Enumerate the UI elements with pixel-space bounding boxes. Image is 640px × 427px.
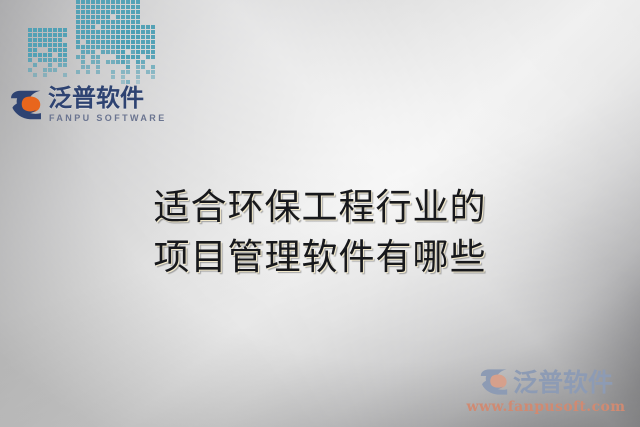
cityscape-pixel <box>43 28 47 32</box>
cityscape-pixel <box>58 53 62 57</box>
cityscape-pixel <box>28 33 32 37</box>
cityscape-pixel <box>76 35 80 39</box>
cityscape-pixel <box>33 53 37 57</box>
cityscape-pixel <box>48 63 52 67</box>
cityscape-pixel <box>151 30 155 34</box>
cityscape-pixel <box>141 60 145 64</box>
cityscape-pixel <box>86 50 90 54</box>
cityscape-pixel <box>58 43 62 47</box>
cityscape-pixel <box>81 5 85 9</box>
cityscape-pixel <box>151 75 155 79</box>
cityscape-pixel <box>136 25 140 29</box>
cityscape-pixel <box>48 58 52 62</box>
cityscape-pixel <box>126 0 130 4</box>
cityscape-pixel <box>106 35 110 39</box>
cityscape-pixel <box>38 58 42 62</box>
cityscape-pixel <box>131 55 135 59</box>
cityscape-pixel <box>91 35 95 39</box>
cityscape-pixel <box>126 55 130 59</box>
cityscape-pixel <box>116 30 120 34</box>
cityscape-pixel <box>91 25 95 29</box>
watermark: 泛普软件 www.fanpusoft.com <box>466 367 626 415</box>
cityscape-pixel <box>106 60 110 64</box>
cityscape-pixel <box>116 20 120 24</box>
cityscape-pixel <box>96 15 100 19</box>
cityscape-pixel <box>126 40 130 44</box>
page-title-line-1: 适合环保工程行业的 <box>0 183 640 233</box>
cityscape-pixel <box>81 55 85 59</box>
cityscape-pixel <box>136 35 140 39</box>
cityscape-pixel <box>101 10 105 14</box>
cityscape-pixel <box>53 48 57 52</box>
cityscape-pixel <box>146 40 150 44</box>
cityscape-pixel <box>111 10 115 14</box>
cityscape-pixel <box>126 60 130 64</box>
watermark-url: www.fanpusoft.com <box>466 399 626 415</box>
cityscape-pixel <box>96 45 100 49</box>
cityscape-pixel <box>33 63 37 67</box>
cityscape-pixel <box>91 10 95 14</box>
cityscape-pixel <box>106 5 110 9</box>
cityscape-pixel <box>151 40 155 44</box>
cityscape-pixel <box>81 30 85 34</box>
cityscape-pixel <box>121 55 125 59</box>
cityscape-pixel <box>43 43 47 47</box>
cityscape-pixel <box>111 40 115 44</box>
cityscape-pixel <box>58 33 62 37</box>
cityscape-pixel <box>28 53 32 57</box>
cityscape-pixel <box>146 35 150 39</box>
cityscape-pixel <box>136 65 140 69</box>
cityscape-pixel <box>126 65 130 69</box>
cityscape-pixel <box>131 15 135 19</box>
cityscape-pixel <box>121 40 125 44</box>
cityscape-pixel <box>146 25 150 29</box>
cityscape-pixel <box>111 75 115 79</box>
cityscape-pixel <box>131 30 135 34</box>
cityscape-pixel <box>28 48 32 52</box>
cityscape-pixel <box>146 70 150 74</box>
cityscape-pixel <box>38 43 42 47</box>
cityscape-pixel <box>131 10 135 14</box>
cityscape-pixel <box>101 5 105 9</box>
cityscape-pixel <box>76 5 80 9</box>
cityscape-pixel <box>96 20 100 24</box>
cityscape-pixel <box>106 25 110 29</box>
cityscape-pixel <box>101 25 105 29</box>
cityscape-pixel <box>81 25 85 29</box>
cityscape-pixel <box>86 10 90 14</box>
cityscape-pixel <box>76 45 80 49</box>
cityscape-pixel <box>106 15 110 19</box>
cityscape-pixel <box>121 45 125 49</box>
cityscape-pixel <box>116 45 120 49</box>
cityscape-pixel <box>53 33 57 37</box>
cityscape-pixel <box>58 28 62 32</box>
page-title-line-2: 项目管理软件有哪些 <box>0 233 640 283</box>
cityscape-pixel <box>38 38 42 42</box>
cityscape-pixel <box>86 65 90 69</box>
cityscape-pixel <box>151 55 155 59</box>
cityscape-pixel <box>111 35 115 39</box>
cityscape-pixel <box>116 60 120 64</box>
cityscape-pixel <box>151 45 155 49</box>
cityscape-pixel <box>101 40 105 44</box>
cityscape-pixel <box>136 75 140 79</box>
cityscape-pixel <box>131 20 135 24</box>
cityscape-pixel <box>121 0 125 4</box>
cityscape-pixel <box>131 40 135 44</box>
cityscape-pixel <box>91 55 95 59</box>
cityscape-pixel <box>101 45 105 49</box>
cityscape-pixel <box>91 60 95 64</box>
cityscape-pixel <box>116 35 120 39</box>
cityscape-pixel <box>151 25 155 29</box>
cityscape-pixel <box>58 63 62 67</box>
cityscape-pixel <box>76 20 80 24</box>
cityscape-pixel <box>76 25 80 29</box>
cityscape-pixel <box>116 5 120 9</box>
cityscape-pixel <box>76 0 80 4</box>
cityscape-pixel <box>121 25 125 29</box>
cityscape-pixel <box>33 48 37 52</box>
cityscape-pixel <box>86 20 90 24</box>
cityscape-pixel <box>81 65 85 69</box>
cityscape-pixel <box>81 15 85 19</box>
cityscape-pixel <box>141 50 145 54</box>
cityscape-pixel <box>63 53 67 57</box>
cityscape-pixel <box>48 38 52 42</box>
cityscape-pixel <box>91 5 95 9</box>
cityscape-pixel <box>101 30 105 34</box>
cityscape-pixel <box>146 45 150 49</box>
cityscape-pixel <box>96 55 100 59</box>
cityscape-pixel <box>116 55 120 59</box>
cityscape-pixel <box>141 25 145 29</box>
cityscape-pixel <box>131 50 135 54</box>
cityscape-pixel <box>121 30 125 34</box>
cityscape-pixel <box>48 43 52 47</box>
cityscape-pixel <box>91 45 95 49</box>
cityscape-pixel <box>106 50 110 54</box>
cityscape-pixel <box>136 20 140 24</box>
cityscape-pixel <box>28 28 32 32</box>
cityscape-pixel <box>53 68 57 72</box>
cityscape-pixel <box>38 33 42 37</box>
cityscape-pixel <box>146 55 150 59</box>
cityscape-pixel <box>151 35 155 39</box>
cityscape-pixel <box>111 5 115 9</box>
cityscape-pixel <box>141 30 145 34</box>
cityscape-pixel <box>43 38 47 42</box>
cityscape-pixel <box>116 50 120 54</box>
cityscape-pixel <box>76 40 80 44</box>
cityscape-pixel <box>81 0 85 4</box>
cityscape-pixel <box>121 5 125 9</box>
cityscape-pixel <box>136 15 140 19</box>
cityscape-pixel <box>58 38 62 42</box>
cityscape-pixel <box>101 20 105 24</box>
brand-name-cn: 泛普软件 <box>48 86 167 110</box>
cityscape-pixel <box>136 30 140 34</box>
cityscape-pixel <box>131 5 135 9</box>
cityscape-pixel <box>136 40 140 44</box>
cityscape-pixel <box>63 73 67 77</box>
cityscape-pixel <box>33 38 37 42</box>
cityscape-pixel <box>86 5 90 9</box>
cityscape-pixel <box>76 30 80 34</box>
cityscape-pixel <box>48 53 52 57</box>
cityscape-pixel <box>91 50 95 54</box>
cityscape-pixel <box>48 33 52 37</box>
brand-name-en: FANPU SOFTWARE <box>49 114 167 123</box>
cityscape-pixel <box>96 40 100 44</box>
cityscape-pixel <box>96 65 100 69</box>
cityscape-pixel <box>136 60 140 64</box>
cityscape-pixel <box>121 70 125 74</box>
cityscape-pixel <box>58 48 62 52</box>
cityscape-pixel <box>86 70 90 74</box>
cityscape-pixel <box>96 5 100 9</box>
cityscape-pixel <box>86 45 90 49</box>
cityscape-pixel <box>121 50 125 54</box>
cityscape-pixel <box>126 70 130 74</box>
watermark-logo-row: 泛普软件 <box>466 367 626 397</box>
cityscape-pixel <box>126 15 130 19</box>
cityscape-pixel <box>111 50 115 54</box>
cityscape-pixel <box>126 5 130 9</box>
cityscape-pixel <box>121 35 125 39</box>
cityscape-pixel <box>76 70 80 74</box>
cityscape-pixel <box>106 20 110 24</box>
cityscape-pixel <box>126 45 130 49</box>
cityscape-pixel <box>136 10 140 14</box>
cityscape-pixel <box>38 28 42 32</box>
cityscape-pixel <box>91 40 95 44</box>
cityscape-pixel <box>33 73 37 77</box>
cityscape-pixel <box>48 48 52 52</box>
cityscape-pixel <box>96 30 100 34</box>
cityscape-pixel <box>81 10 85 14</box>
cityscape-pixel <box>136 50 140 54</box>
cityscape-pixel <box>141 45 145 49</box>
cityscape-pixel <box>121 20 125 24</box>
fanpu-swoosh-logo-watermark-icon <box>479 367 509 397</box>
cityscape-pixel <box>76 55 80 59</box>
cityscape-pixel <box>116 10 120 14</box>
cityscape-pixel <box>136 5 140 9</box>
cityscape-pixel <box>126 35 130 39</box>
cityscape-pixel <box>43 33 47 37</box>
cityscape-pixel <box>86 30 90 34</box>
cityscape-pixel <box>81 60 85 64</box>
cityscape-pixel <box>63 48 67 52</box>
cityscape-pixel <box>76 15 80 19</box>
cityscape-pixel <box>96 70 100 74</box>
cityscape-pixel <box>111 0 115 4</box>
cityscape-pixel <box>121 10 125 14</box>
cityscape-pixel <box>38 53 42 57</box>
cityscape-pixel <box>116 0 120 4</box>
cityscape-pixel <box>91 15 95 19</box>
cityscape-pixel <box>111 20 115 24</box>
cityscape-pixel <box>63 33 67 37</box>
cityscape-pixel <box>48 68 52 72</box>
cityscape-pixel <box>111 30 115 34</box>
cityscape-pixel <box>81 50 85 54</box>
cityscape-pixel <box>116 25 120 29</box>
cityscape-pixel <box>43 53 47 57</box>
cityscape-pixel <box>106 0 110 4</box>
cityscape-pixel <box>136 0 140 4</box>
cityscape-pixel <box>141 40 145 44</box>
cityscape-pixel <box>33 28 37 32</box>
cityscape-pixel <box>151 50 155 54</box>
brand-logo: 泛普软件 FANPU SOFTWARE <box>9 86 167 123</box>
promo-banner: 泛普软件 FANPU SOFTWARE 适合环保工程行业的 项目管理软件有哪些 … <box>0 0 640 427</box>
cityscape-pixel <box>63 63 67 67</box>
cityscape-pixel <box>111 60 115 64</box>
cityscape-pixel <box>86 40 90 44</box>
pixel-cityscape-graphic <box>28 0 138 80</box>
cityscape-pixel <box>48 28 52 32</box>
cityscape-pixel <box>96 0 100 4</box>
cityscape-pixel <box>96 35 100 39</box>
cityscape-pixel <box>121 75 125 79</box>
cityscape-pixel <box>91 20 95 24</box>
cityscape-pixel <box>126 10 130 14</box>
cityscape-pixel <box>106 10 110 14</box>
cityscape-pixel <box>131 0 135 4</box>
cityscape-pixel <box>28 68 32 72</box>
cityscape-pixel <box>28 43 32 47</box>
cityscape-pixel <box>106 45 110 49</box>
cityscape-pixel <box>131 25 135 29</box>
cityscape-pixel <box>33 33 37 37</box>
cityscape-pixel <box>91 30 95 34</box>
cityscape-pixel <box>81 45 85 49</box>
cityscape-pixel <box>131 45 135 49</box>
watermark-name-cn: 泛普软件 <box>513 370 613 395</box>
cityscape-pixel <box>111 45 115 49</box>
cityscape-pixel <box>106 40 110 44</box>
cityscape-pixel <box>43 58 47 62</box>
cityscape-pixel <box>63 28 67 32</box>
cityscape-pixel <box>151 65 155 69</box>
cityscape-pixel <box>121 60 125 64</box>
cityscape-pixel <box>101 50 105 54</box>
cityscape-pixel <box>111 70 115 74</box>
cityscape-pixel <box>101 0 105 4</box>
cityscape-pixel <box>58 58 62 62</box>
cityscape-pixel <box>136 45 140 49</box>
cityscape-pixel <box>131 35 135 39</box>
cityscape-pixel <box>53 43 57 47</box>
cityscape-pixel <box>136 55 140 59</box>
cityscape-pixel <box>141 35 145 39</box>
cityscape-pixel <box>63 58 67 62</box>
cityscape-pixel <box>86 15 90 19</box>
cityscape-pixel <box>146 50 150 54</box>
cityscape-pixel <box>33 43 37 47</box>
cityscape-pixel <box>76 10 80 14</box>
cityscape-pixel <box>121 15 125 19</box>
cityscape-pixel <box>101 35 105 39</box>
cityscape-pixel <box>53 58 57 62</box>
cityscape-pixel <box>96 60 100 64</box>
cityscape-pixel <box>81 20 85 24</box>
cityscape-pixel <box>53 38 57 42</box>
cityscape-pixel <box>43 73 47 77</box>
cityscape-pixel <box>81 35 85 39</box>
cityscape-pixel <box>63 43 67 47</box>
cityscape-pixel <box>43 68 47 72</box>
cityscape-pixel <box>136 70 140 74</box>
cityscape-pixel <box>151 70 155 74</box>
cityscape-pixel <box>86 35 90 39</box>
cityscape-pixel <box>86 0 90 4</box>
cityscape-pixel <box>106 30 110 34</box>
cityscape-pixel <box>116 15 120 19</box>
cityscape-pixel <box>96 10 100 14</box>
cityscape-pixel <box>116 40 120 44</box>
cityscape-pixel <box>126 25 130 29</box>
fanpu-swoosh-logo-icon <box>9 88 43 122</box>
page-title: 适合环保工程行业的 项目管理软件有哪些 <box>0 183 640 283</box>
cityscape-pixel <box>91 0 95 4</box>
cityscape-pixel <box>28 58 32 62</box>
cityscape-pixel <box>86 25 90 29</box>
cityscape-pixel <box>101 15 105 19</box>
cityscape-pixel <box>126 20 130 24</box>
cityscape-pixel <box>53 28 57 32</box>
cityscape-pixel <box>146 30 150 34</box>
cityscape-pixel <box>111 25 115 29</box>
cityscape-pixel <box>28 38 32 42</box>
cityscape-pixel <box>141 65 145 69</box>
cityscape-pixel <box>126 30 130 34</box>
